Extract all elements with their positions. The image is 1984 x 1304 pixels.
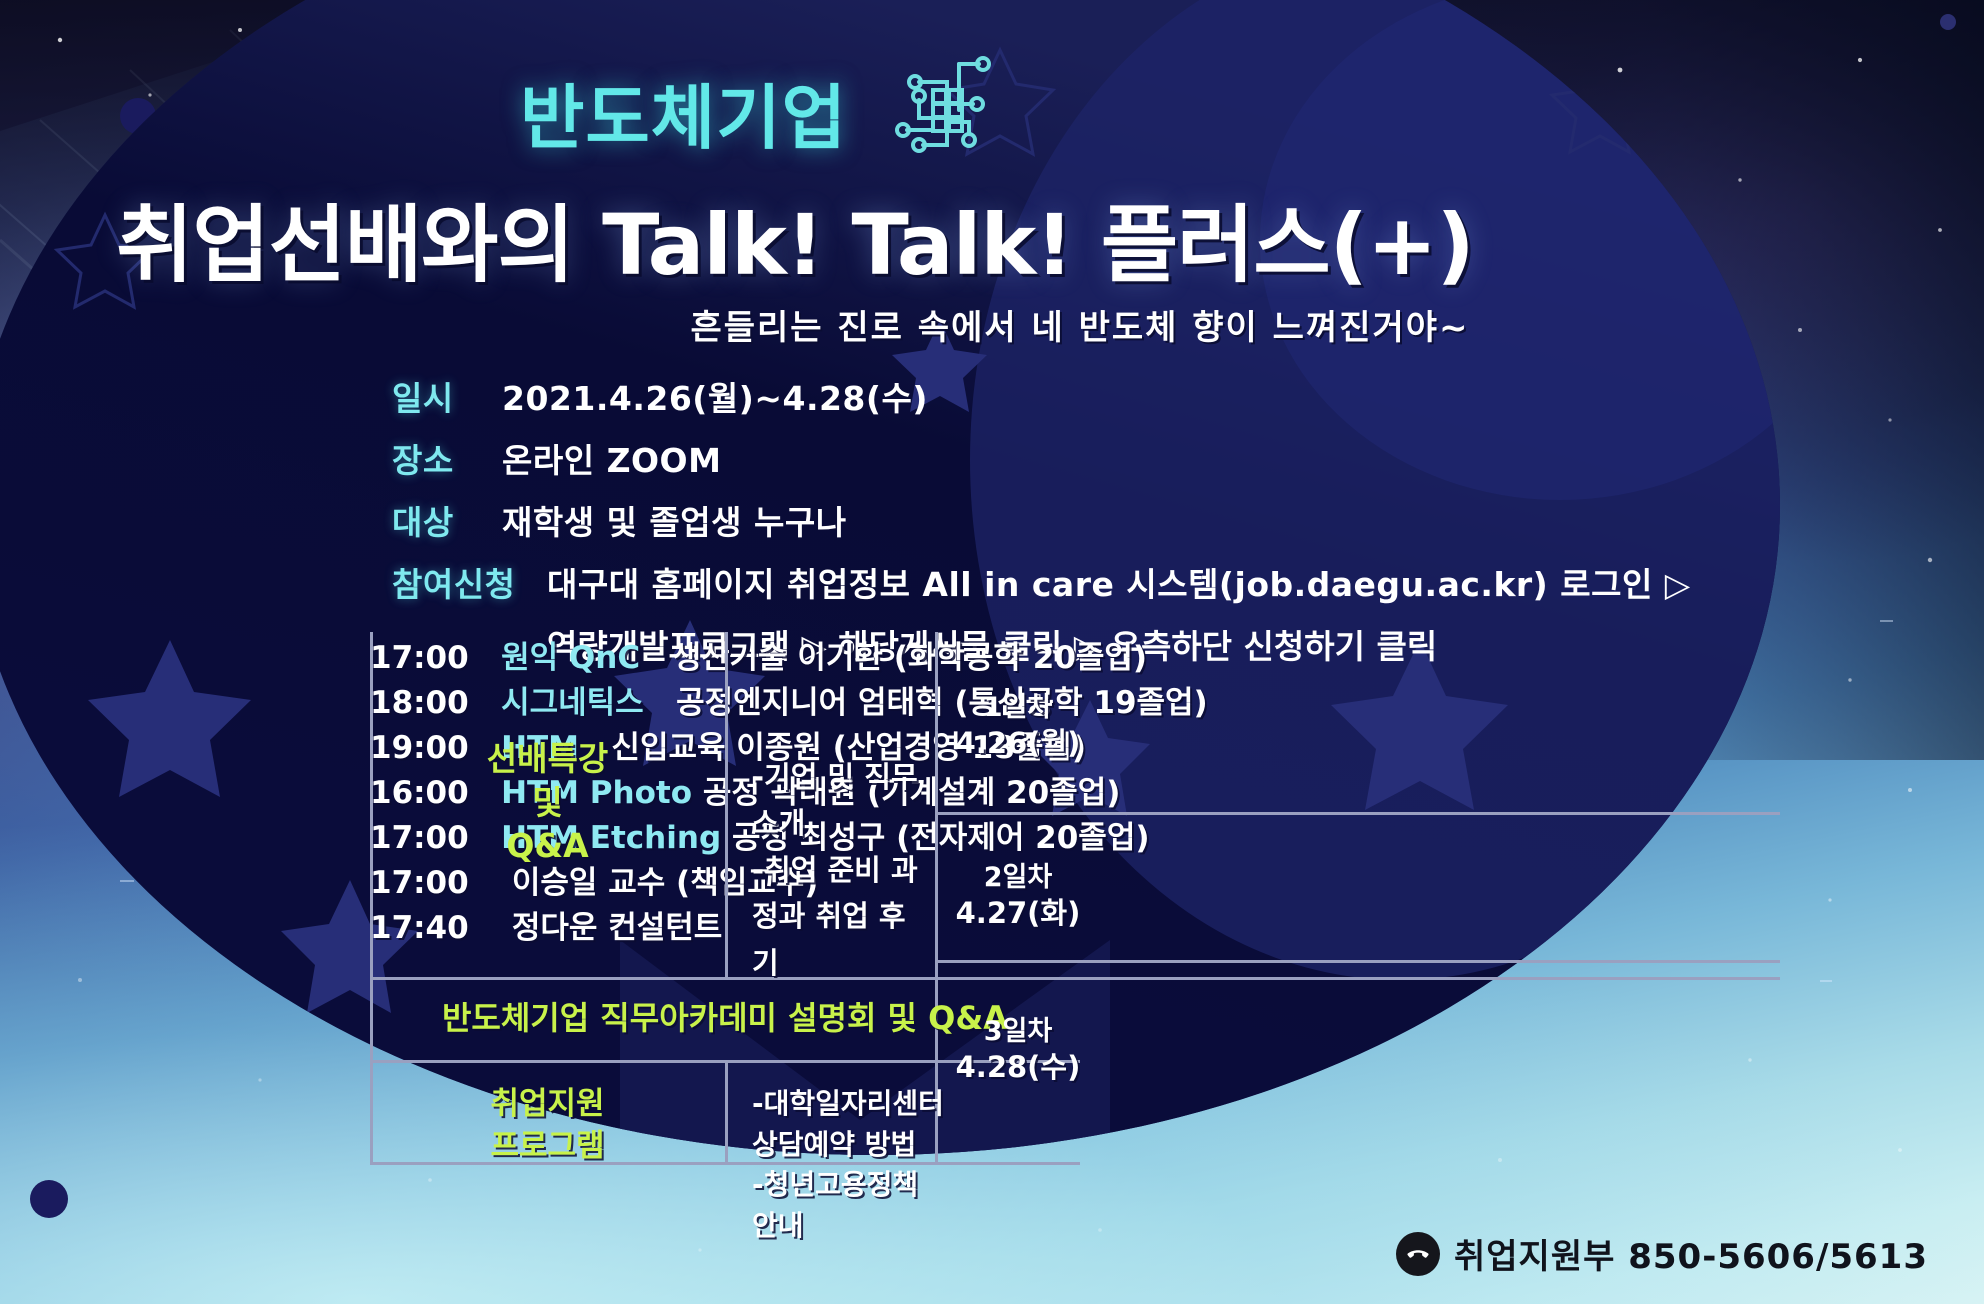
poster-content: 반도체기업: [0, 0, 1984, 1304]
section1-title: 선배특강 및 Q&A: [370, 737, 725, 868]
table-line-v5: [725, 1060, 728, 1162]
session-detail: 생산기술 이기환 (화학공학 20졸업): [672, 640, 1147, 676]
session-time: 17:00: [370, 865, 469, 901]
info-list: 일시 2021.4.26(월)~4.28(수) 장소 온라인 ZOOM 대상 재…: [392, 372, 1692, 668]
info-row-place: 장소 온라인 ZOOM: [392, 434, 1692, 482]
table-line-h3: [370, 977, 1780, 980]
day3-number: 3일차: [938, 1014, 1098, 1049]
section1-desc: -기업 및 직무 소개 -취업 준비 과정과 취업 후기: [752, 754, 932, 986]
session-org: 원익 QnC: [501, 640, 640, 676]
poster-root: 반도체기업: [0, 0, 1984, 1304]
info-value-apply: 대구대 홈페이지 취업정보 All in care 시스템(job.daegu.…: [547, 558, 1691, 606]
info-value-audience: 재학생 및 졸업생 누구나: [502, 496, 847, 544]
info-value-date: 2021.4.26(월)~4.28(수): [502, 372, 928, 420]
info-label-date: 일시: [392, 372, 502, 420]
table-line-h2: [935, 960, 1780, 963]
phone-icon: [1396, 1232, 1440, 1276]
info-value-place: 온라인 ZOOM: [502, 434, 721, 482]
session-row: 17:00 원익 QnC 생산기술 이기환 (화학공학 20졸업): [370, 632, 1780, 677]
headline-block: 반도체기업: [0, 62, 1590, 163]
day1-label: 1일차 4.26(월): [938, 690, 1098, 763]
day3-label: 3일차 4.28(수): [938, 1014, 1098, 1087]
session-org: 시그네틱스: [501, 685, 644, 721]
footer-text: 취업지원부 850-5606/5613: [1454, 1229, 1928, 1278]
day3-date: 4.28(수): [938, 1049, 1098, 1087]
info-row-date: 일시 2021.4.26(월)~4.28(수): [392, 372, 1692, 420]
info-row-audience: 대상 재학생 및 졸업생 누구나: [392, 496, 1692, 544]
schedule-table: 선배특강 및 Q&A -기업 및 직무 소개 -취업 준비 과정과 취업 후기 …: [370, 632, 1780, 947]
table-line-v2: [725, 632, 728, 977]
table-line-h1: [935, 812, 1780, 815]
day1-number: 1일차: [938, 690, 1098, 725]
session-time: 17:00: [370, 640, 469, 676]
section2-desc: -대학일자리센터 상담예약 방법 -청년고용정책 안내: [752, 1084, 952, 1246]
info-label-place: 장소: [392, 434, 502, 482]
day1-date: 4.26(월): [938, 725, 1098, 763]
info-label-apply: 참여신청: [392, 558, 547, 606]
day2-label: 2일차 4.27(화): [938, 860, 1098, 933]
session-time: 17:40: [370, 910, 469, 946]
kicker-text: 반도체기업: [520, 62, 847, 163]
tagline: 흔들리는 진로 속에서 네 반도체 향이 느껴진거야~: [640, 300, 1520, 349]
session-detail: 정다운 컨설턴트: [512, 910, 722, 946]
circuit-chip-icon: [885, 52, 995, 161]
info-label-audience: 대상: [392, 496, 502, 544]
session-time: 18:00: [370, 685, 469, 721]
page-title: 취업선배와의 Talk! Talk! 플러스(+): [0, 178, 1590, 299]
day2-number: 2일차: [938, 860, 1098, 895]
info-row-apply: 참여신청 대구대 홈페이지 취업정보 All in care 시스템(job.d…: [392, 558, 1692, 606]
footer-contact: 취업지원부 850-5606/5613: [1396, 1229, 1928, 1278]
day2-date: 4.27(화): [938, 895, 1098, 933]
section2-title: 취업지원 프로그램: [370, 1084, 725, 1168]
